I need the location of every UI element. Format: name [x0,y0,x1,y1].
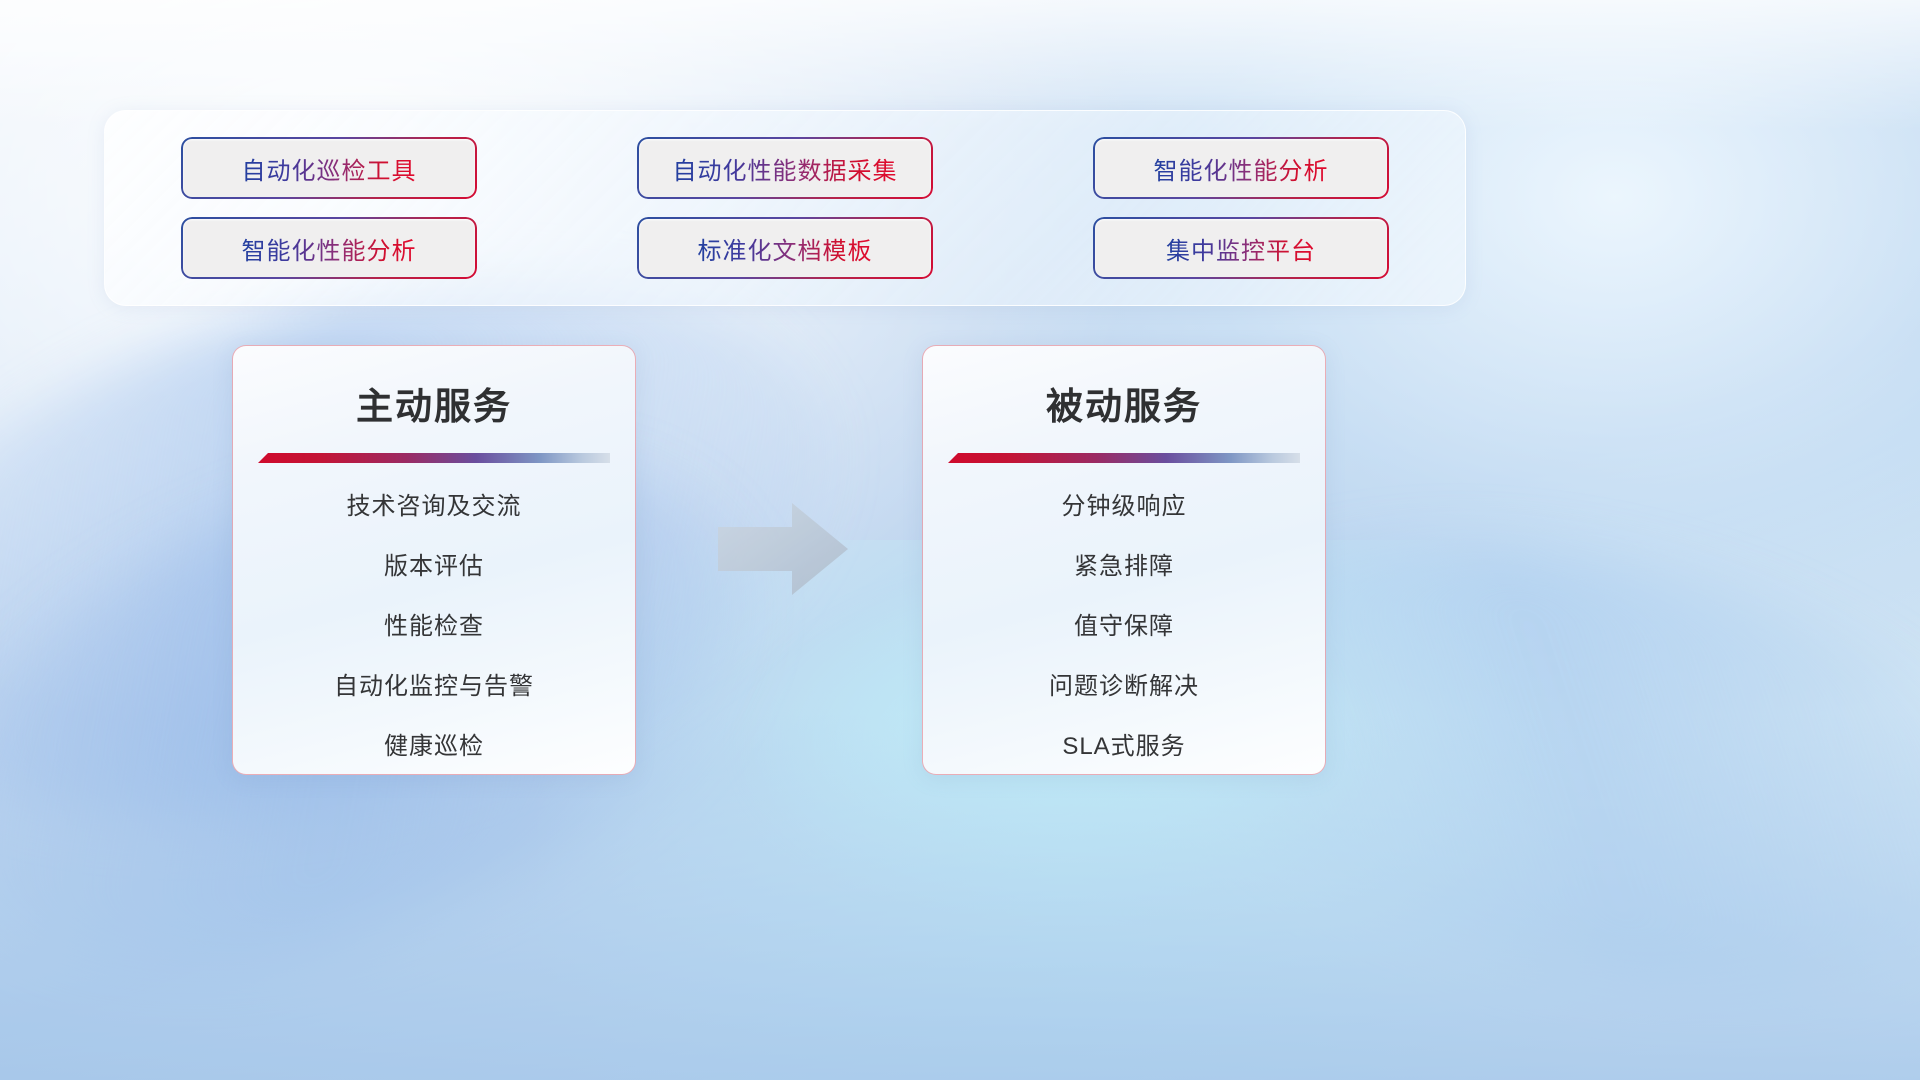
capability-pill-label: 集中监控平台 [1166,231,1316,266]
card-divider-ribbon [258,453,610,463]
list-item: 分钟级响应 [1062,495,1187,519]
capability-pill-centralized-monitoring-platform[interactable]: 集中监控平台 [1095,219,1387,277]
capability-pill-label: 自动化性能数据采集 [673,151,898,186]
list-item: 版本评估 [384,555,484,579]
card-divider-ribbon [948,453,1300,463]
card-item-list: 分钟级响应 紧急排障 值守保障 问题诊断解决 SLA式服务 [947,495,1301,759]
list-item: 紧急排障 [1074,555,1174,579]
card-divider [948,453,1300,465]
capability-pill-automated-performance-data-collection[interactable]: 自动化性能数据采集 [639,139,931,197]
capability-pill-intelligent-performance-analysis[interactable]: 智能化性能分析 [183,219,475,277]
list-item: 自动化监控与告警 [334,675,534,699]
capability-pill-label: 标准化文档模板 [698,231,873,266]
list-item: 技术咨询及交流 [347,495,522,519]
capability-pill-label: 智能化性能分析 [242,231,417,266]
card-title: 被动服务 [1046,388,1202,425]
capability-panel: 自动化巡检工具 自动化性能数据采集 智能化性能分析 智能化性能分析 标准化文档模… [104,110,1466,306]
capability-row-1: 自动化巡检工具 自动化性能数据采集 智能化性能分析 [183,139,1387,197]
service-card-proactive: 主动服务 技术咨询及交流 版本评估 性能检查 自动化监控与告警 健康巡检 [232,345,636,775]
list-item: SLA式服务 [1062,735,1185,759]
capability-pill-automated-inspection-tool[interactable]: 自动化巡检工具 [183,139,475,197]
list-item: 值守保障 [1074,615,1174,639]
capability-row-2: 智能化性能分析 标准化文档模板 集中监控平台 [183,219,1387,277]
list-item: 问题诊断解决 [1049,675,1199,699]
card-item-list: 技术咨询及交流 版本评估 性能检查 自动化监控与告警 健康巡检 [257,495,611,759]
capability-pill-standard-document-template[interactable]: 标准化文档模板 [639,219,931,277]
list-item: 性能检查 [384,615,484,639]
arrow-right-icon [718,503,848,595]
card-title: 主动服务 [356,388,512,425]
capability-pill-intelligent-performance-analysis-top[interactable]: 智能化性能分析 [1095,139,1387,197]
capability-pill-label: 智能化性能分析 [1154,151,1329,186]
list-item: 健康巡检 [384,735,484,759]
capability-pill-label: 自动化巡检工具 [242,151,417,186]
service-card-reactive: 被动服务 分钟级响应 紧急排障 值守保障 问题诊断解决 SLA式服务 [922,345,1326,775]
card-divider [258,453,610,465]
